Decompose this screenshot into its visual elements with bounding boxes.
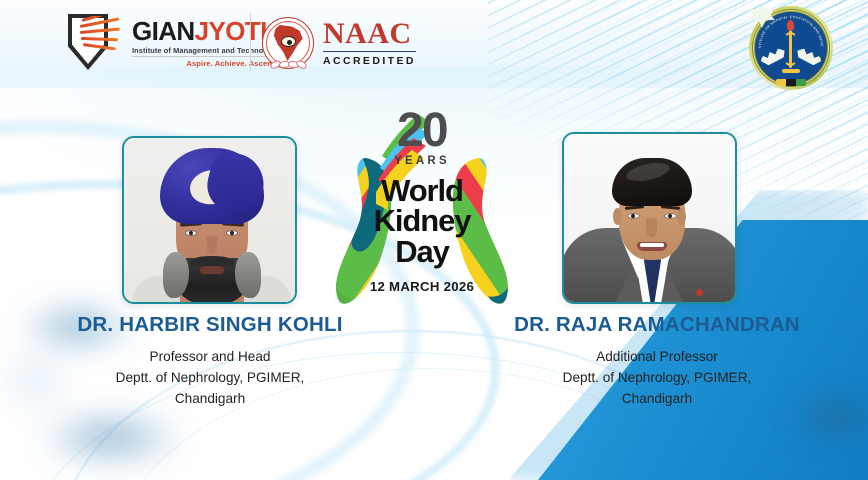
anniversary-number: 20 xyxy=(397,106,447,154)
anniversary-years-label: YEARS xyxy=(394,155,450,167)
naac-seal-icon xyxy=(262,17,314,69)
wkd-title-line2: Kidney xyxy=(374,206,471,236)
blur-blob-decor xyxy=(36,408,186,468)
wkd-title-line1: World xyxy=(374,176,471,206)
shield-feather-icon xyxy=(68,12,126,74)
speaker-name: DR. RAJA RAMACHANDRAN xyxy=(462,313,852,337)
naac-wordmark: NAAC xyxy=(323,19,416,52)
speaker-role-line2: Deptt. of Nephrology, PGIMER, xyxy=(20,367,400,388)
speaker-portrait-suit-icon xyxy=(562,132,737,304)
speaker-name: DR. HARBIR SINGH KOHLI xyxy=(20,313,400,337)
speaker-card xyxy=(562,132,737,304)
speaker-role: Professor and Head Deptt. of Nephrology,… xyxy=(20,346,400,409)
speaker-portrait-turban-icon xyxy=(122,136,297,304)
gian-jyoti-name-part1: GIAN xyxy=(132,16,195,46)
gian-jyoti-name-part2: JYOTI xyxy=(195,16,267,46)
speaker-role-line1: Additional Professor xyxy=(462,346,852,367)
speaker-info-left: DR. HARBIR SINGH KOHLI Professor and Hea… xyxy=(20,313,400,409)
speaker-role-line1: Professor and Head xyxy=(20,346,400,367)
speaker-info-right: DR. RAJA RAMACHANDRAN Additional Profess… xyxy=(462,313,852,409)
logo-divider xyxy=(250,13,251,71)
speaker-role: Additional Professor Deptt. of Nephrolog… xyxy=(462,346,852,409)
wkd-event-date: 12 MARCH 2026 xyxy=(370,279,474,294)
gian-jyoti-tagline: Aspire. Achieve. Ascend. xyxy=(132,59,279,68)
speaker-role-line3: Chandigarh xyxy=(462,388,852,409)
gian-jyoti-subtitle: Institute of Management and Technology xyxy=(132,46,279,58)
pgimer-emblem-icon: POSTGRADUATE INSTITUTE OF MEDICAL EDUCAT… xyxy=(749,6,833,90)
wkd-title-line3: Day xyxy=(374,237,471,267)
poster-canvas: GIANJYOTI Institute of Management and Te… xyxy=(0,0,868,480)
anniversary-number-wrap: 20 xyxy=(372,106,472,154)
world-kidney-day-logo: 20 YEARS World Kidney Day 12 MARCH 2026 xyxy=(322,104,522,312)
gian-jyoti-logo: GIANJYOTI Institute of Management and Te… xyxy=(68,8,279,78)
speaker-role-line2: Deptt. of Nephrology, PGIMER, xyxy=(462,367,852,388)
naac-logo: NAAC ACCREDITED xyxy=(262,10,416,76)
logo-row: GIANJYOTI Institute of Management and Te… xyxy=(0,0,868,88)
speaker-role-line3: Chandigarh xyxy=(20,388,400,409)
naac-accredited-label: ACCREDITED xyxy=(323,55,416,67)
speaker-card xyxy=(122,136,297,304)
